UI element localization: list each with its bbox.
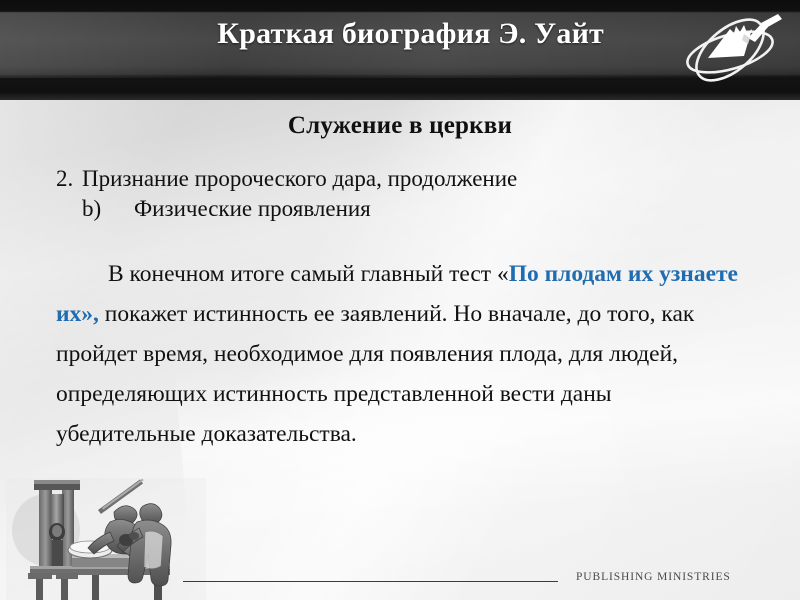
list-item: 2.Признание пророческого дара, продолжен… — [56, 165, 756, 194]
list-item-marker: b) — [82, 194, 134, 224]
page-title: Служение в церкви — [0, 112, 800, 140]
paragraph-rest: покажет истинность ее заявлений. Но внач… — [56, 301, 694, 447]
list-item: b)Физические проявления — [56, 194, 756, 224]
paragraph-lead: В конечном итоге самый главный тест « — [108, 261, 509, 287]
outline-list: 2.Признание пророческого дара, продолжен… — [56, 165, 756, 224]
body-paragraph: В конечном итоге самый главный тест «По … — [56, 254, 746, 454]
printing-press-engraving — [6, 470, 206, 600]
list-item-label: Физические проявления — [134, 196, 371, 221]
open-book-quill-orbit-logo — [678, 8, 786, 84]
header-title: Краткая биография Э. Уайт — [0, 17, 720, 51]
slide-header: Краткая биография Э. Уайт — [0, 0, 800, 100]
slide: Краткая биография Э. Уайт Служение в цер… — [0, 0, 800, 600]
list-item-marker: 2. — [56, 165, 82, 194]
list-item-label: Признание пророческого дара, продолжение — [82, 166, 517, 191]
horizontal-rule — [183, 581, 558, 582]
footer-label: PUBLISHING MINISTRIES — [576, 571, 731, 583]
